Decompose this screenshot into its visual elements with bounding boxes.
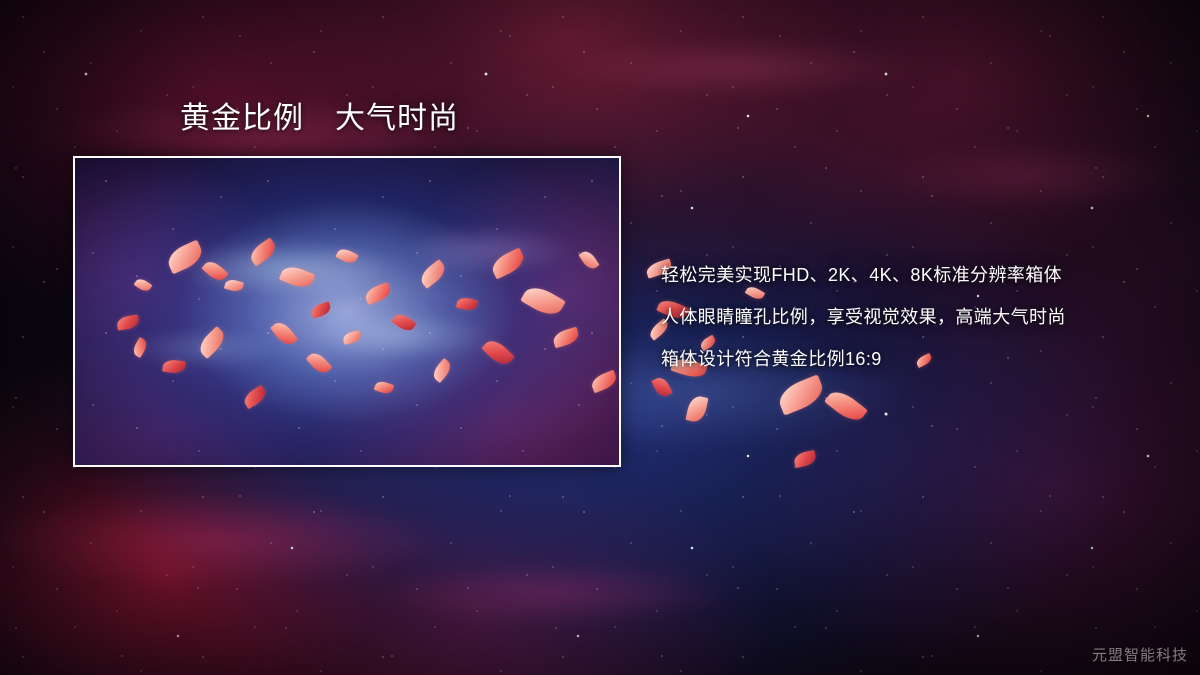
framed-image[interactable] [73, 156, 621, 467]
body-line-2: 人体眼睛瞳孔比例，享受视觉效果，高端大气时尚 [661, 296, 1161, 338]
framed-image-stars [75, 158, 619, 465]
watermark: 元盟智能科技 [1092, 644, 1188, 665]
body-line-1: 轻松完美实现FHD、2K、4K、8K标准分辨率箱体 [661, 254, 1161, 296]
page-title: 黄金比例 大气时尚 [180, 103, 459, 135]
body-copy: 轻松完美实现FHD、2K、4K、8K标准分辨率箱体 人体眼睛瞳孔比例，享受视觉效… [661, 254, 1161, 380]
presentation-slide: 黄金比例 大气时尚 轻松完美实现FHD、2K、4K、8K标准分辨率箱体 人体眼睛… [0, 0, 1200, 675]
body-line-3: 箱体设计符合黄金比例16:9 [661, 338, 1161, 380]
